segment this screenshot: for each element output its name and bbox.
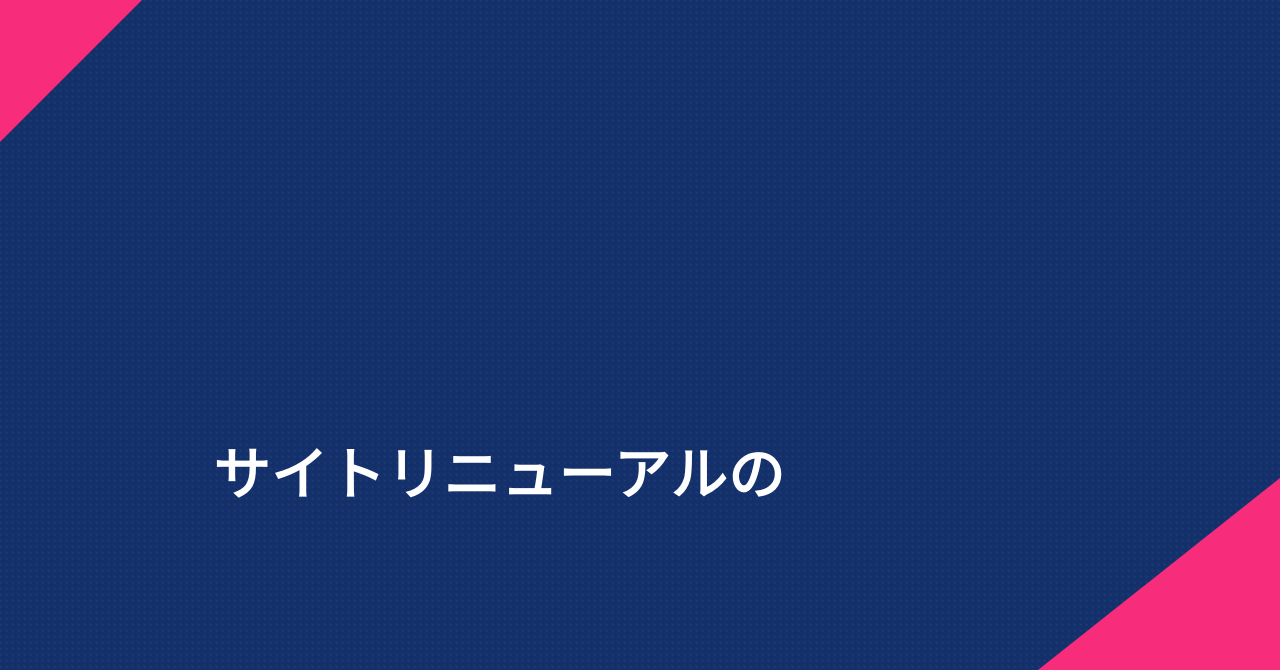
headline-line-1: サイトリニューアルの [214, 429, 1134, 522]
pink-triangle-top-left [0, 0, 142, 142]
banner-headline: サイトリニューアルの 提案書をつくる前にやってること [214, 243, 1134, 670]
ogp-banner: サイトリニューアルの 提案書をつくる前にやってること [0, 0, 1280, 670]
